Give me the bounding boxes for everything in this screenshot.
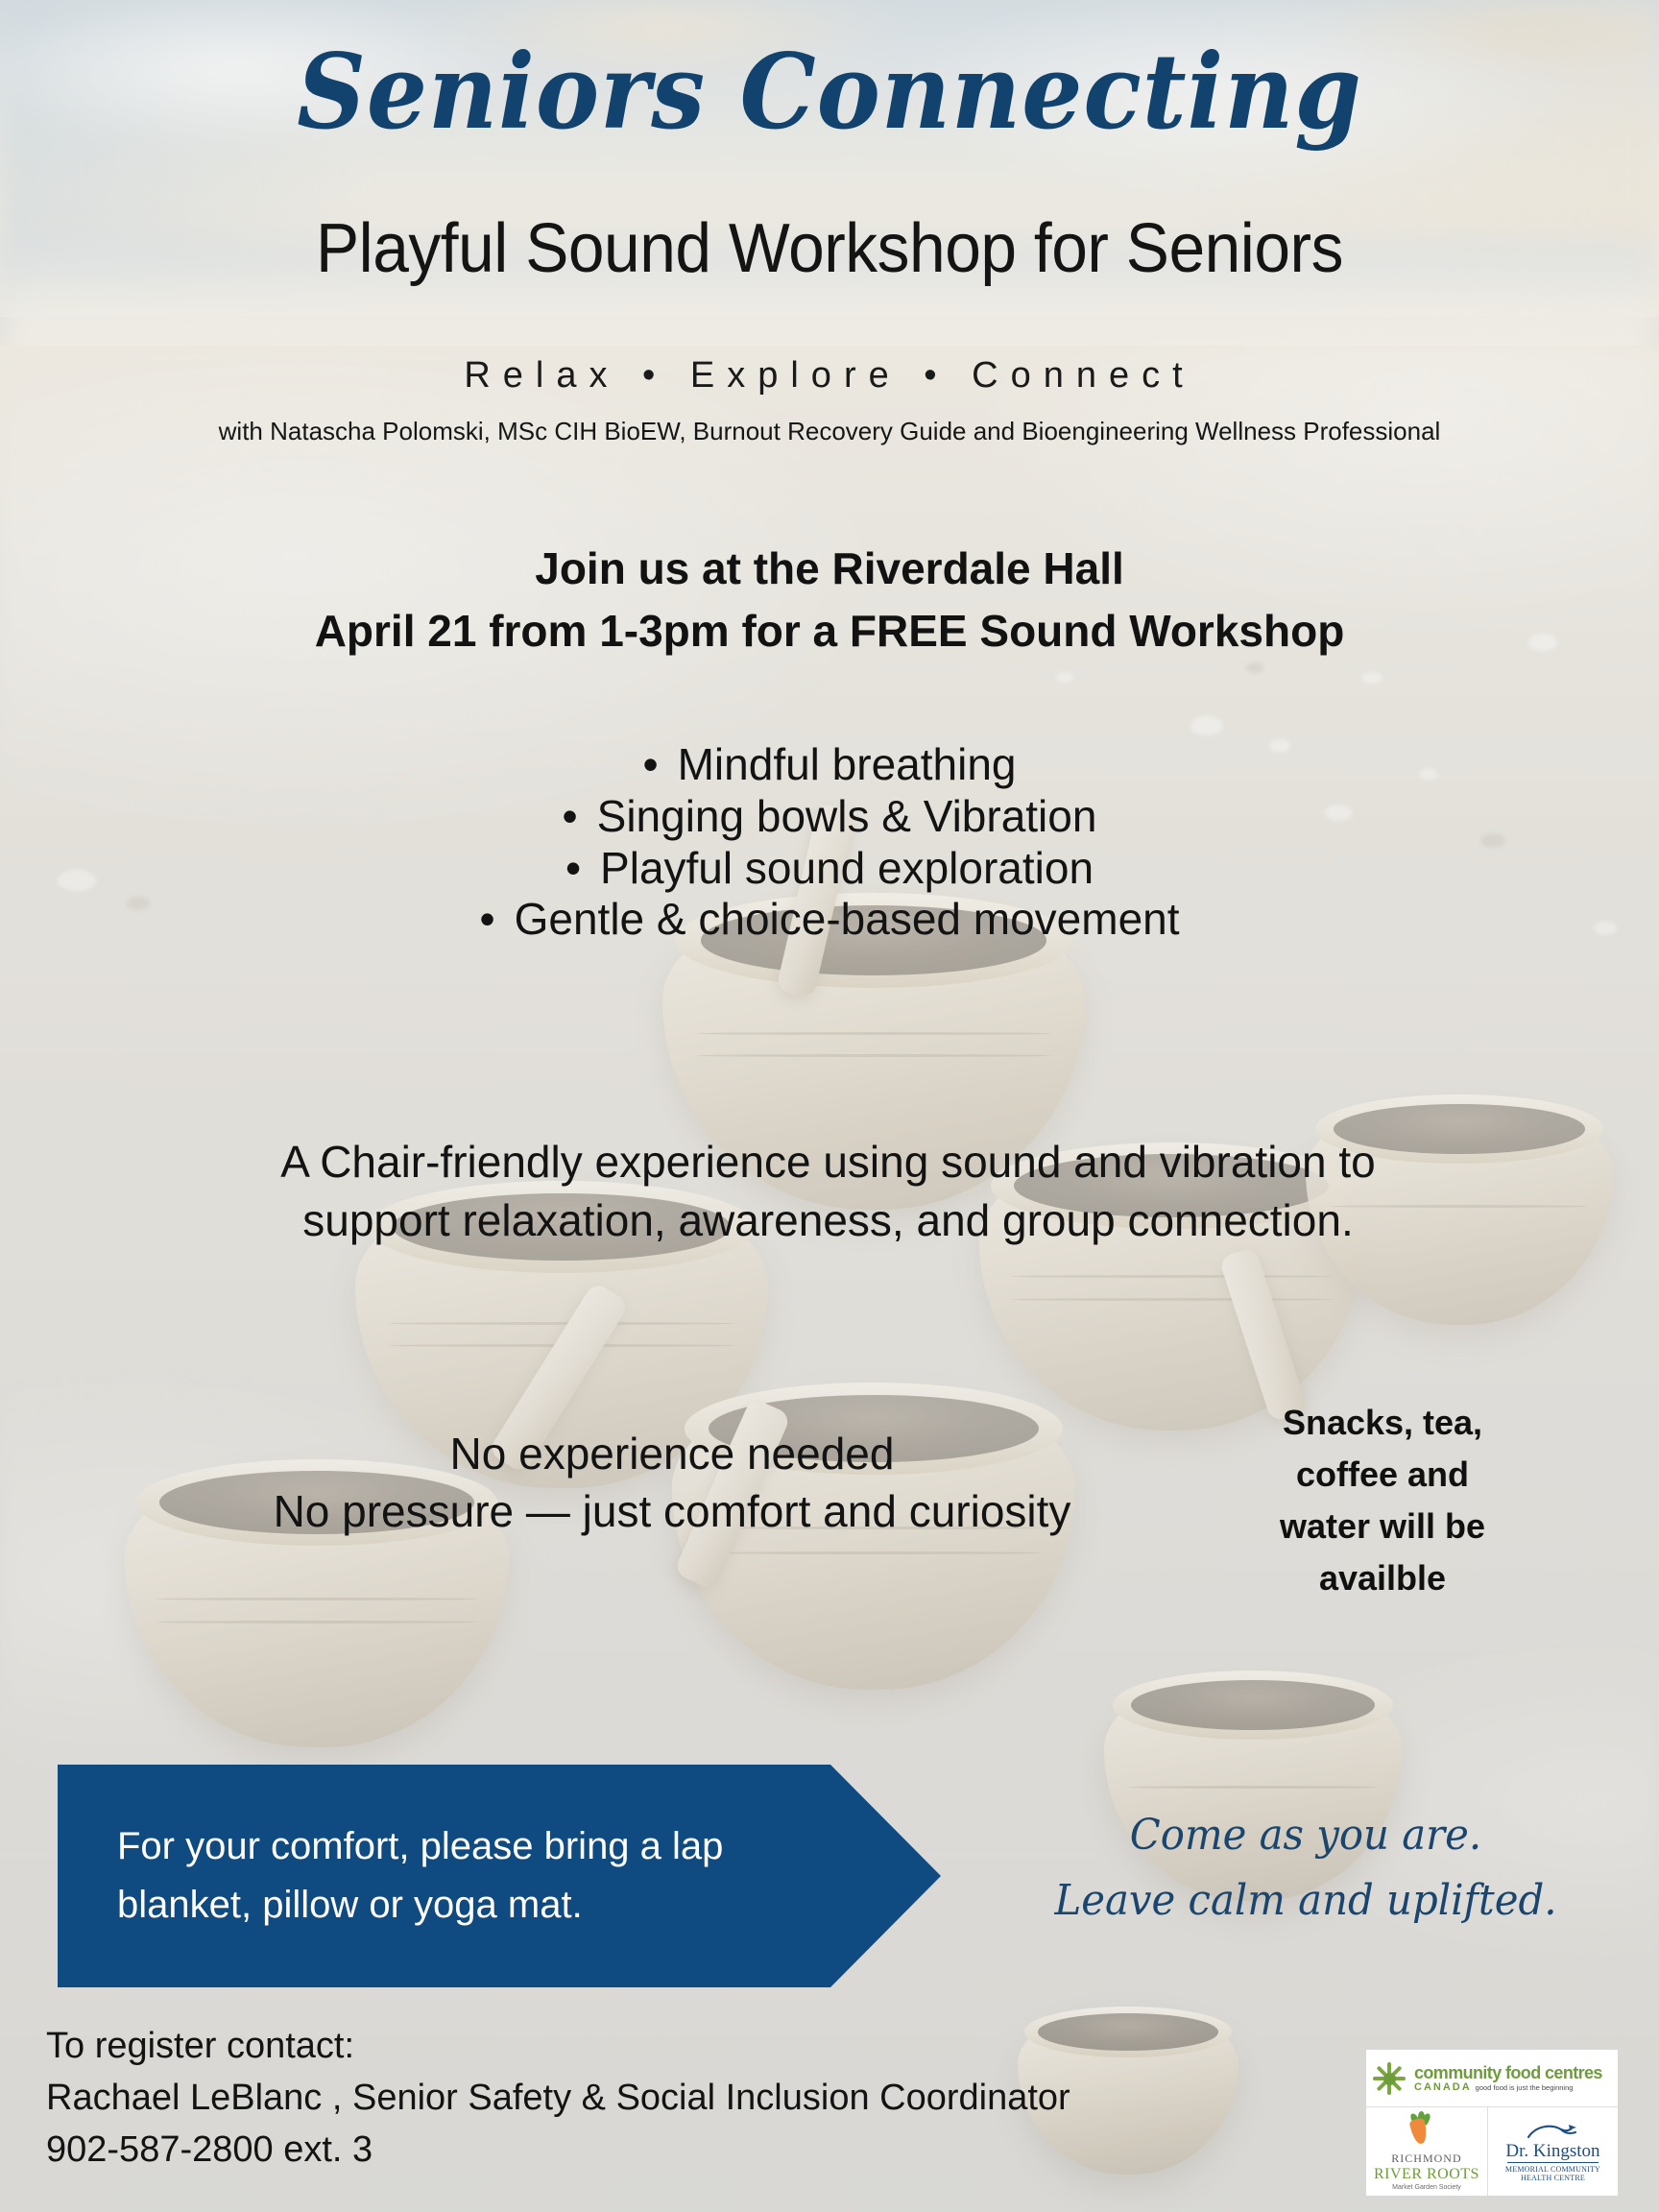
logo-cfc-tagline: good food is just the beginning [1476, 2084, 1574, 2092]
contact-person: Rachael LeBlanc , Senior Safety & Social… [46, 2073, 1070, 2125]
bring-items-banner: For your comfort, please bring a lap bla… [58, 1765, 941, 1987]
registration-contact: To register contact: Rachael LeBlanc , S… [46, 2021, 1070, 2176]
logo-dk-divider [1507, 2162, 1598, 2163]
logo-dk-line3: HEALTH CENTRE [1521, 2174, 1585, 2182]
event-details: Join us at the Riverdale Hall April 21 f… [0, 538, 1659, 663]
contact-phone[interactable]: 902-587-2800 ext. 3 [46, 2125, 1070, 2176]
logo-rrr-line1: RICHMOND [1391, 2152, 1461, 2166]
poster-canvas: Seniors Connecting Playful Sound Worksho… [0, 0, 1659, 2212]
seagull-wave-icon [1527, 2122, 1578, 2141]
logo-dk-line2: MEMORIAL COMMUNITY [1505, 2165, 1600, 2174]
list-item: Singing bowls & Vibration [0, 791, 1659, 843]
list-item: Gentle & choice-based movement [0, 894, 1659, 946]
poster-headline: Playful Sound Workshop for Seniors [50, 209, 1609, 288]
presenter-credit: with Natascha Polomski, MSc CIH BioEW, B… [0, 417, 1659, 446]
event-date-line: April 21 from 1-3pm for a FREE Sound Wor… [0, 600, 1659, 662]
logo-community-food-centres-canada: community food centres CANADA good food … [1366, 2050, 1618, 2107]
closing-line-2: Leave calm and uplifted. [1050, 1868, 1561, 1934]
logo-cfc-name: community food centres [1414, 2064, 1614, 2081]
logo-rrr-line3: Market Garden Society [1392, 2184, 1461, 2191]
activities-list: Mindful breathing Singing bowls & Vibrat… [0, 739, 1659, 946]
no-experience-note: No experience needed No pressure — just … [240, 1426, 1104, 1541]
closing-message: Come as you are. Leave calm and uplifted… [1050, 1803, 1561, 1934]
event-venue-line: Join us at the Riverdale Hall [0, 538, 1659, 600]
sponsor-logos: community food centres CANADA good food … [1365, 2049, 1619, 2197]
snacks-note: Snacks, tea, coffee and water will be av… [1248, 1397, 1517, 1604]
logo-dk-line1: Dr. Kingston [1505, 2142, 1599, 2160]
logo-cfc-country: CANADA [1414, 2082, 1472, 2093]
poster-script-title: Seniors Connecting [66, 38, 1593, 147]
no-experience-line-2: No pressure — just comfort and curiosity [240, 1483, 1104, 1541]
poster-content: Seniors Connecting Playful Sound Worksho… [0, 0, 1659, 2212]
list-item: Playful sound exploration [0, 843, 1659, 895]
no-experience-line-1: No experience needed [240, 1426, 1104, 1483]
bring-items-text: For your comfort, please bring a lap bla… [58, 1817, 941, 1935]
logo-rrr-line2: RIVER ROOTS [1374, 2166, 1479, 2183]
closing-line-1: Come as you are. [1050, 1803, 1561, 1868]
logo-dr-kingston-health-centre: Dr. Kingston MEMORIAL COMMUNITY HEALTH C… [1488, 2107, 1618, 2196]
logo-richmond-river-roots: RICHMOND RIVER ROOTS Market Garden Socie… [1366, 2107, 1488, 2196]
leaf-fork-mandala-icon [1368, 2057, 1410, 2100]
carrot-icon [1408, 2111, 1430, 2144]
poster-tagline: Relax • Explore • Connect [0, 355, 1659, 397]
list-item: Mindful breathing [0, 739, 1659, 791]
workshop-description: A Chair-friendly experience using sound … [245, 1133, 1411, 1250]
contact-heading: To register contact: [46, 2021, 1070, 2073]
